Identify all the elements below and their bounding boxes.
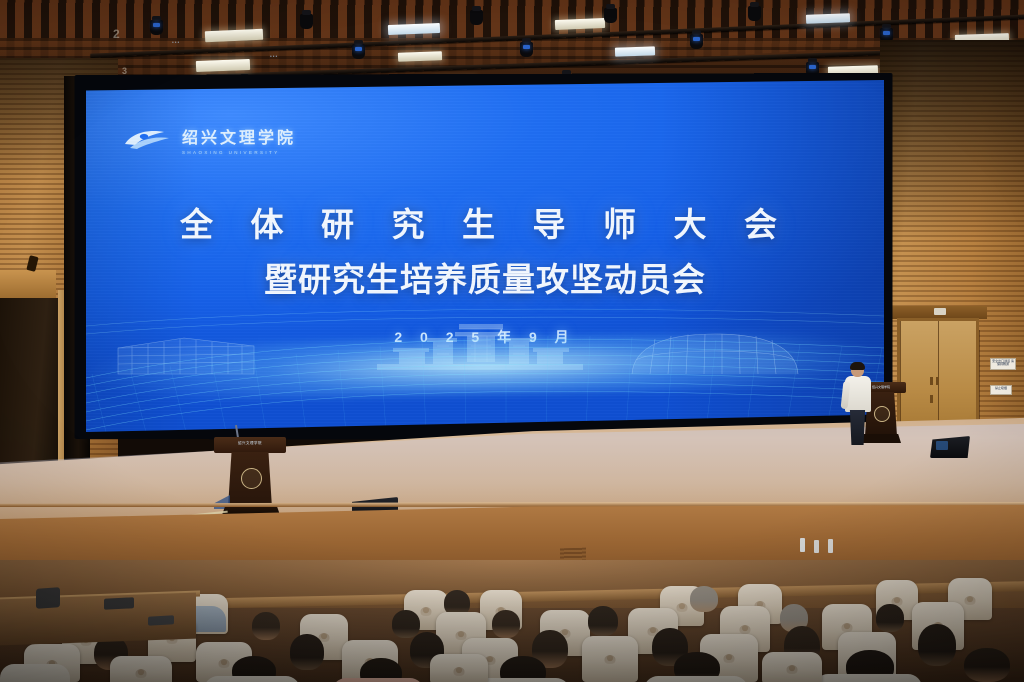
left-wall-panel [0,270,56,300]
led-pixel-scanlines [86,80,884,432]
attendee [964,648,1010,682]
presenter-at-podium [843,363,873,445]
desk-equipment [104,597,134,610]
stage-light-fixture [555,18,605,30]
water-bottle [800,538,805,552]
attendee [588,606,618,636]
moving-head-spotlight [604,8,617,23]
attendee [0,664,70,682]
auditorium-seat[interactable] [430,654,488,682]
desk-equipment [148,615,174,625]
moving-head-spotlight [300,14,313,29]
auditorium-seat[interactable] [762,652,822,682]
moving-head-spotlight [150,20,163,35]
wall-notice-sign: 禁止吸烟 [990,385,1012,395]
attendee [814,674,922,682]
water-bottle [828,539,833,553]
attendee [918,624,956,666]
auditorium-seat[interactable] [110,656,172,682]
attendee [204,676,300,682]
rig-detail-marks: ••• [172,40,180,46]
attendee [690,586,718,612]
podium-nameplate: 绍兴文理学院 [226,441,274,446]
wall-notice-sign: 安全出口通道 请保持畅通 [990,358,1016,370]
right-wall-shadow [880,40,1024,240]
auditorium-photo: 2 3 ••• ••• ••• ••• [0,0,1024,682]
attendee [290,634,324,670]
water-bottle [814,540,819,553]
rig-marker-number: 2 [113,27,120,41]
attendee [492,610,520,638]
moving-head-spotlight [352,44,365,59]
led-screen[interactable]: 绍兴文理学院 SHAOXING UNIVERSITY 全 体 研 究 生 导 师… [86,80,884,432]
attendee [252,612,280,640]
moving-head-spotlight [520,42,533,57]
stage-light-fixture [398,51,442,62]
attendee [876,604,904,632]
auditorium-seat[interactable] [582,636,638,682]
exit-sign-plate [934,308,946,315]
moving-head-spotlight [470,10,483,25]
presenter-hair [850,362,865,370]
attendee [392,610,420,638]
door-handle-icon[interactable] [930,372,946,380]
university-seal-emblem [874,406,890,422]
stage-light-fixture [806,13,850,24]
moving-head-spotlight [748,6,761,21]
stage-monitor-speaker [930,436,970,458]
desk-equipment [36,587,60,609]
moving-head-spotlight [690,34,703,49]
stage-light-fixture [615,46,655,56]
rig-detail-marks: ••• [270,54,278,60]
attendee [644,676,748,682]
attendee [332,678,424,682]
university-seal-emblem [241,468,262,489]
stage-light-fixture [196,59,250,72]
presenter-legs [848,410,867,445]
